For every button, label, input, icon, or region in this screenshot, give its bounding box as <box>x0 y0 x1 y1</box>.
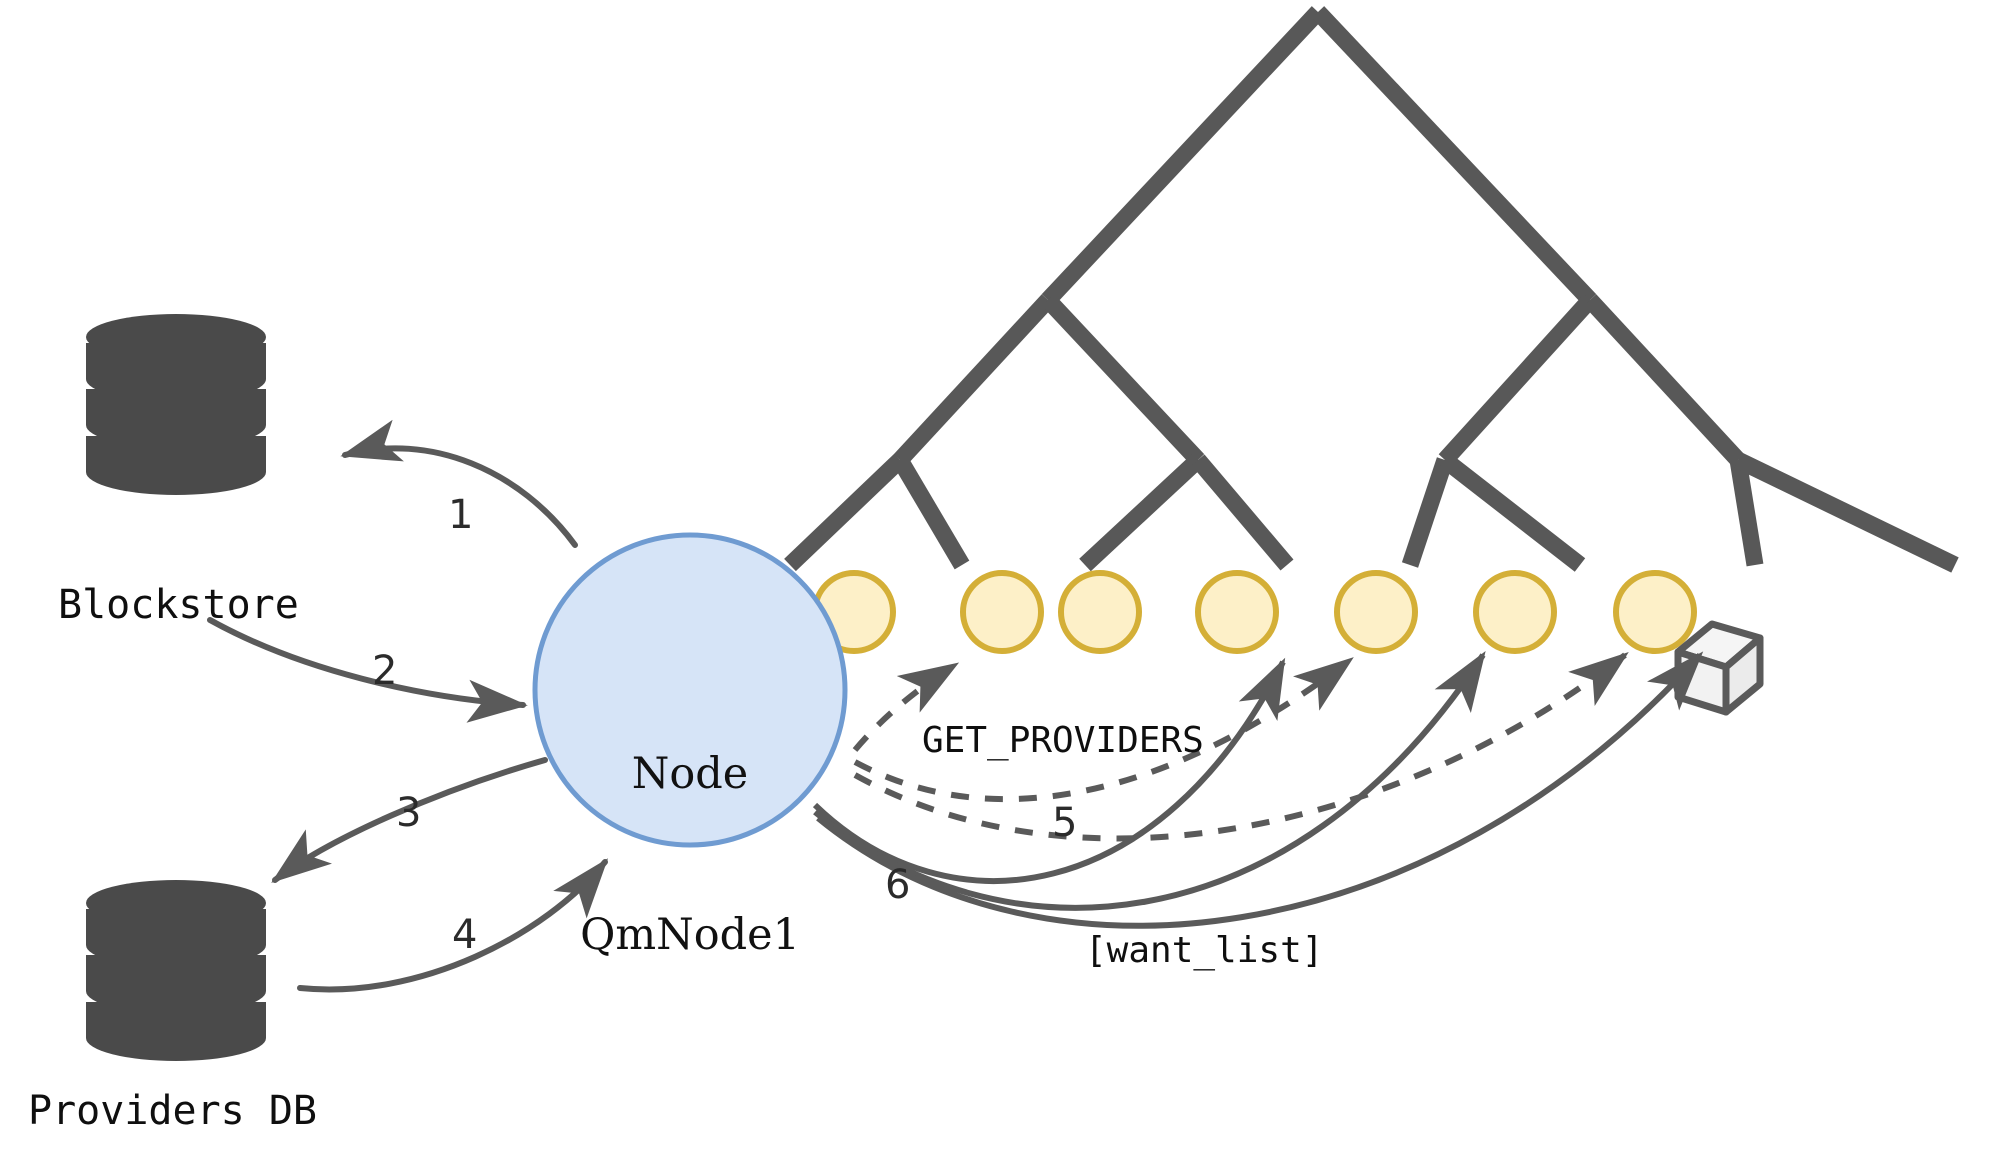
tree-edge-leaf-0 <box>790 460 900 565</box>
blockstore-icon <box>86 314 266 495</box>
arrow-step-2 <box>210 620 523 705</box>
tree-edge-leaf-4 <box>1410 460 1445 565</box>
step-number-2: 2 <box>372 648 397 694</box>
providers-db-icon <box>86 880 266 1061</box>
peer-node[interactable] <box>1476 573 1554 651</box>
tree-edge-l1l-right <box>1048 300 1198 460</box>
diagram-canvas: Node QmNode1 Blockstore Providers DB 1 2… <box>0 0 2004 1176</box>
peer-node[interactable] <box>963 573 1041 651</box>
node-label: Node QmNode1 <box>535 640 845 1070</box>
step-number-4: 4 <box>452 912 477 958</box>
step-number-6: 6 <box>885 862 910 908</box>
tree-edge-leaf-1 <box>900 460 962 565</box>
peer-node-with-block[interactable] <box>1616 573 1694 651</box>
peer-node[interactable] <box>1198 573 1276 651</box>
peer-node[interactable] <box>1061 573 1139 651</box>
tree-edge-root-left <box>1048 12 1318 300</box>
tree-edge-l1r-right <box>1590 300 1738 460</box>
tree-edge-leaf-7 <box>1738 460 1955 565</box>
tree-edge-l1r-left <box>1445 300 1590 460</box>
tree-edge-leaf-3 <box>1198 460 1287 565</box>
peer-node[interactable] <box>1337 573 1415 651</box>
want-list-message-label: [want_list] <box>1085 930 1323 971</box>
node-label-line1: Node <box>535 748 845 802</box>
tree-edge-leaf-5 <box>1445 460 1580 565</box>
get-providers-message-label: GET_PROVIDERS <box>922 720 1204 761</box>
tree-edge-l1l-left <box>900 300 1048 460</box>
providers-db-label: Providers DB <box>28 1088 317 1134</box>
arrow-want-list-to-peer-3 <box>815 662 1283 881</box>
diagram-svg <box>0 0 2004 1176</box>
blockstore-label: Blockstore <box>58 582 299 628</box>
dht-binary-tree <box>790 12 1955 565</box>
step-number-1: 1 <box>448 492 473 538</box>
tree-edge-root-right <box>1318 12 1590 300</box>
step-number-5: 5 <box>1052 800 1077 846</box>
dht-leaf-nodes <box>717 573 1694 651</box>
step-number-3: 3 <box>396 790 421 836</box>
tree-edge-leaf-2 <box>1085 460 1198 565</box>
node-label-line2: QmNode1 <box>535 909 845 963</box>
